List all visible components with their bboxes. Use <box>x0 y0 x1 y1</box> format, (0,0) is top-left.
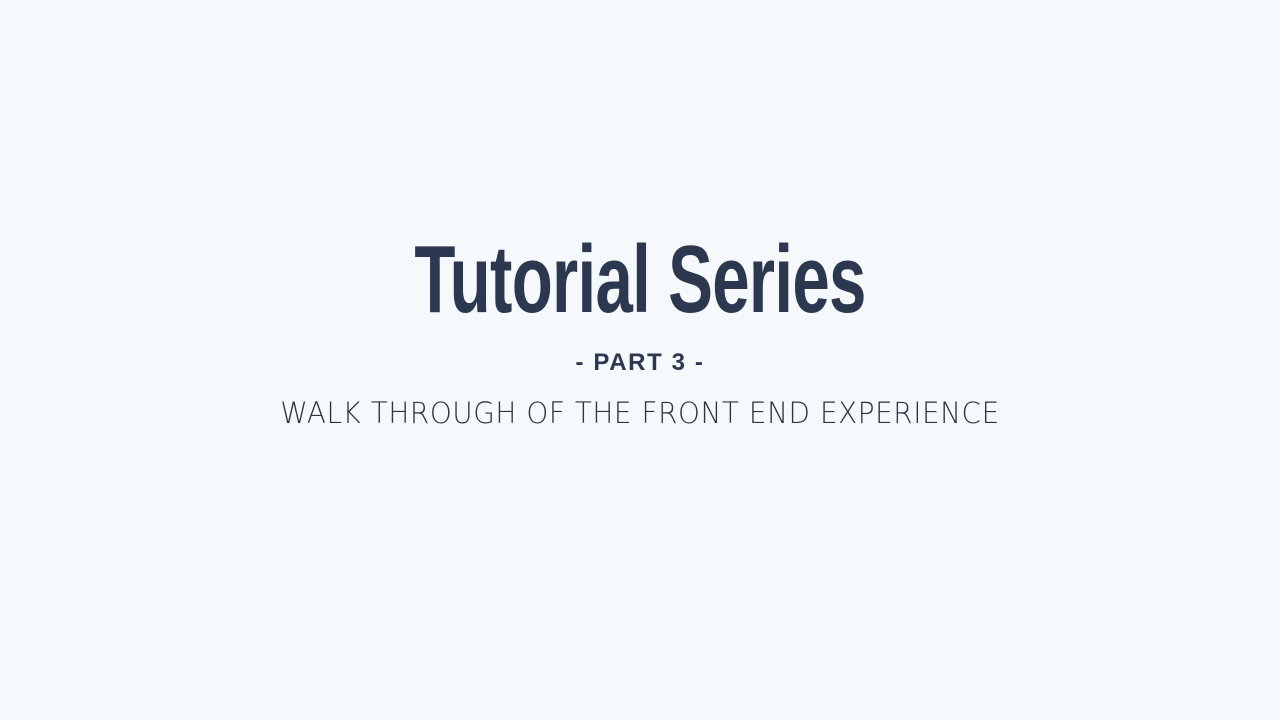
page-title: Tutorial Series <box>192 232 1088 328</box>
part-label: - PART 3 - <box>0 328 1280 378</box>
slide-subtitle: WALK THROUGH OF THE FRONT END EXPERIENCE <box>26 378 1255 430</box>
title-block: Tutorial Series - PART 3 - WALK THROUGH … <box>0 232 1280 430</box>
title-slide: Tutorial Series - PART 3 - WALK THROUGH … <box>0 0 1280 720</box>
